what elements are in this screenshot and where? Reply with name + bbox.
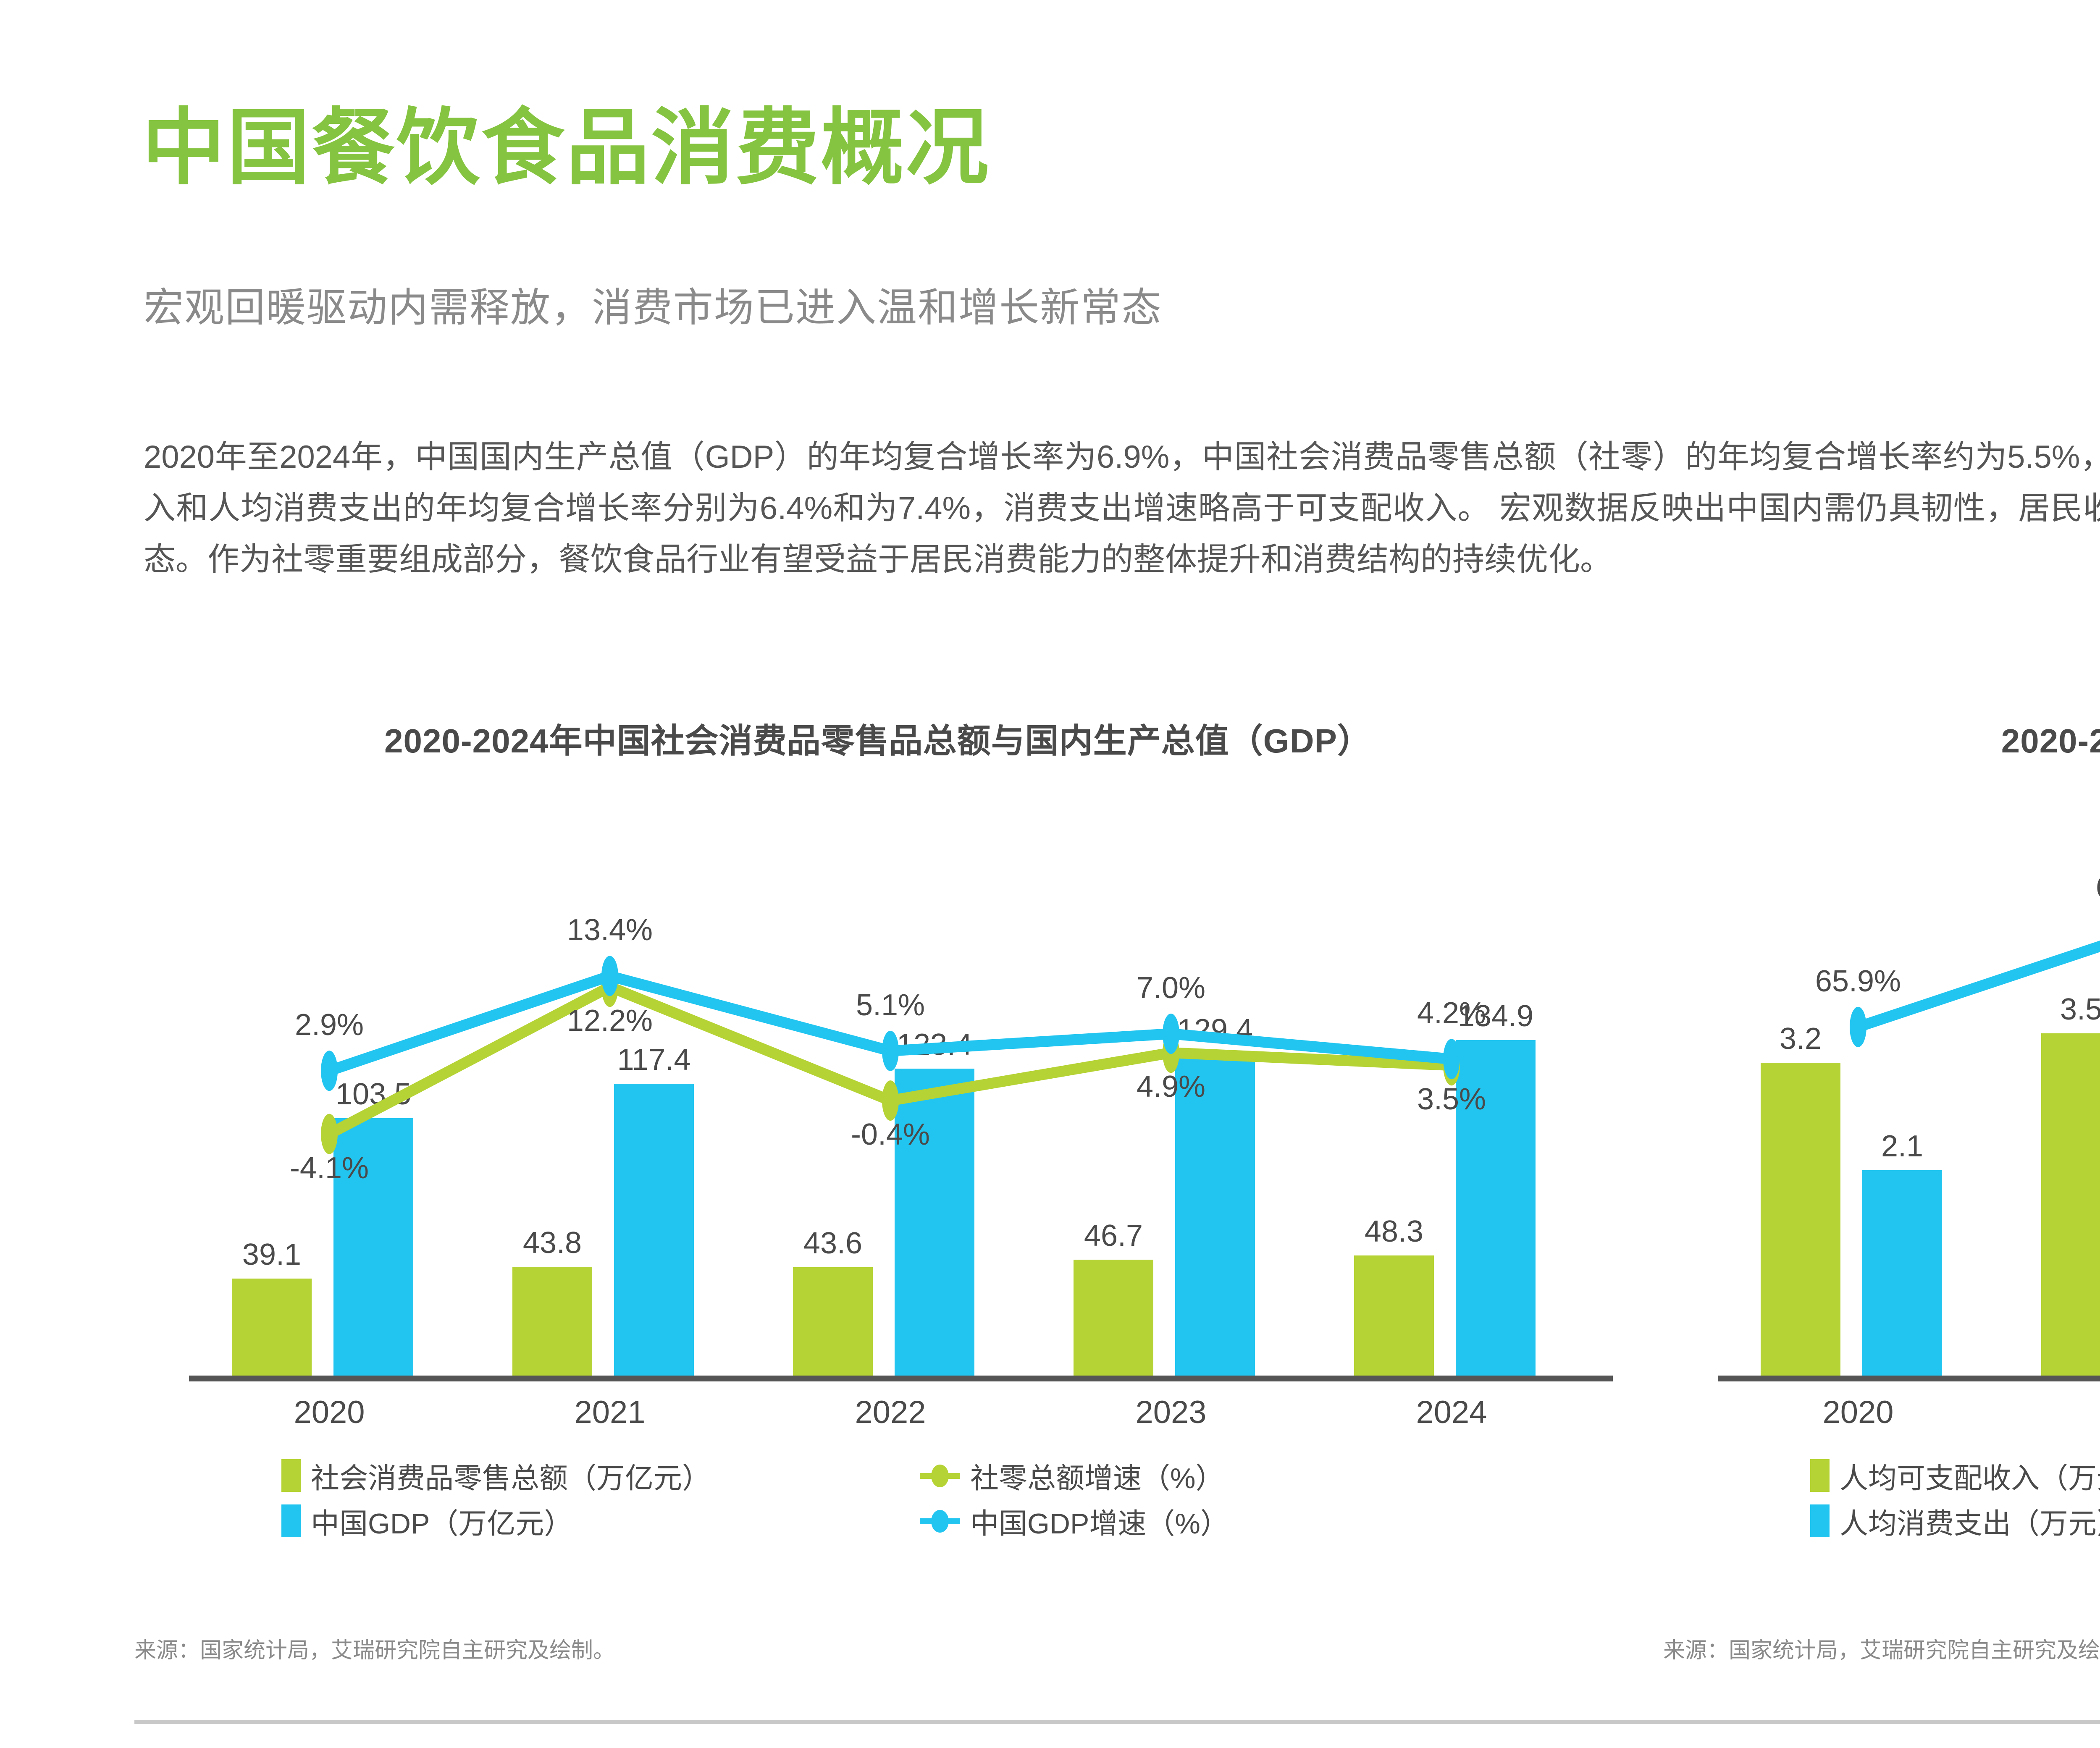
bar-value-label: 43.6 bbox=[770, 1226, 896, 1261]
bar-value-label: 103.5 bbox=[310, 1077, 436, 1111]
x-axis-tick-label: 2020 bbox=[189, 1394, 470, 1431]
line-point-label: 4.9% bbox=[1137, 1069, 1205, 1104]
bar-green: 43.8 bbox=[512, 1267, 592, 1376]
swatch-green-line-icon bbox=[920, 1459, 960, 1492]
plot-area-left: 39.1103.543.8117.443.6123.446.7129.448.3… bbox=[164, 823, 1592, 1381]
legend-label: 社会消费品零售总额（万亿元） bbox=[311, 1455, 711, 1496]
x-axis-labels-left: 20202021202220232024 bbox=[189, 1394, 1592, 1431]
chart-title-left: 2020-2024年中国社会消费品零售品总额与国内生产总值（GDP） bbox=[134, 714, 1621, 763]
legend-label: 社零总额增速（%） bbox=[970, 1455, 1224, 1496]
line-point-label: -4.1% bbox=[290, 1151, 369, 1185]
line-point-label: 7.0% bbox=[1137, 971, 1205, 1005]
bar-value-label: 39.1 bbox=[209, 1237, 335, 1272]
legend-label: 中国GDP增速（%） bbox=[970, 1500, 1229, 1542]
bar-group-container-left: 39.1103.543.8117.443.6123.446.7129.448.3… bbox=[189, 823, 1592, 1376]
page-subtitle: 宏观回暖驱动内需释放，消费市场已进入温和增长新常态 bbox=[144, 275, 1162, 333]
bar-green: 3.2 bbox=[1761, 1063, 1840, 1376]
legend-item-retail-bar[interactable]: 社会消费品零售总额（万亿元） bbox=[281, 1455, 920, 1496]
bar-green: 48.3 bbox=[1354, 1255, 1434, 1376]
bar-blue: 117.4 bbox=[614, 1084, 694, 1376]
chart-panel-left: 2020-2024年中国社会消费品零售品总额与国内生产总值（GDP） 39.11… bbox=[134, 714, 1621, 1692]
swatch-green-bar-icon bbox=[1810, 1459, 1830, 1492]
source-note-left: 来源：国家统计局，艾瑞研究院自主研究及绘制。 bbox=[134, 1633, 615, 1664]
legend-label: 人均可支配收入（万元） bbox=[1840, 1455, 2100, 1496]
legend-label: 人均消费支出（万元） bbox=[1840, 1500, 2100, 1542]
x-axis-line bbox=[1718, 1376, 2100, 1381]
bar-value-label: 117.4 bbox=[591, 1043, 717, 1077]
bar-value-label: 3.2 bbox=[1738, 1022, 1864, 1056]
x-axis-tick-label: 2022 bbox=[750, 1394, 1031, 1431]
swatch-blue-line-icon bbox=[920, 1504, 960, 1537]
legend-item-expense-bar[interactable]: 人均消费支出（万元） bbox=[1810, 1500, 2100, 1542]
x-axis-tick-label: 2020 bbox=[1718, 1394, 1998, 1431]
legend-right: 人均可支配收入（万元） 人均消费支出占人均可支配收入比例（%） 人均消费支出（万… bbox=[1810, 1453, 2100, 1544]
chart-panel-right: 2020-2024年人均可支配收入和人均消费支出及其占比 3.22.13.52.… bbox=[1663, 714, 2100, 1692]
bar-value-label: 3.5 bbox=[2018, 992, 2100, 1027]
line-point-label: -0.4% bbox=[851, 1117, 930, 1152]
swatch-blue-bar-icon bbox=[1810, 1504, 1830, 1537]
x-axis-tick-label: 2023 bbox=[1031, 1394, 1311, 1431]
legend-item-gdp-bar[interactable]: 中国GDP（万亿元） bbox=[281, 1500, 920, 1542]
source-note-right: 来源：国家统计局，艾瑞研究院自主研究及绘制。 bbox=[1663, 1633, 2100, 1664]
legend-label: 中国GDP（万亿元） bbox=[311, 1500, 572, 1542]
body-paragraph: 2020年至2024年，中国国内生产总值（GDP）的年均复合增长率为6.9%，中… bbox=[144, 432, 2100, 585]
chart-title-right: 2020-2024年人均可支配收入和人均消费支出及其占比 bbox=[1663, 714, 2100, 763]
x-axis-line bbox=[189, 1376, 1613, 1381]
bar-value-label: 123.4 bbox=[871, 1027, 997, 1062]
bar-green: 3.5 bbox=[2041, 1033, 2100, 1376]
bar-group: 3.52.4 bbox=[2021, 823, 2100, 1376]
line-point-label: 65.9% bbox=[1815, 964, 1901, 998]
line-point-label: 4.2% bbox=[1417, 996, 1486, 1030]
plot-area-right: 3.22.13.52.43.72.53.92.74.12.8 65.9%68.6… bbox=[1693, 823, 2100, 1381]
bar-blue: 123.4 bbox=[895, 1069, 974, 1376]
line-point-label: 2.9% bbox=[295, 1008, 364, 1042]
legend-item-income-bar[interactable]: 人均可支配收入（万元） bbox=[1810, 1455, 2100, 1496]
bar-group-container-right: 3.22.13.52.43.72.53.92.74.12.8 bbox=[1718, 823, 2100, 1376]
bar-value-label: 48.3 bbox=[1331, 1214, 1457, 1249]
bar-value-label: 129.4 bbox=[1152, 1013, 1278, 1047]
page-title: 中国餐饮食品消费概况 bbox=[142, 104, 990, 191]
swatch-blue-bar-icon bbox=[281, 1504, 301, 1537]
line-point-label: 5.1% bbox=[856, 988, 925, 1022]
bar-group: 3.22.1 bbox=[1740, 823, 1976, 1376]
line-point-label: 12.2% bbox=[567, 1004, 653, 1038]
bar-value-label: 43.8 bbox=[489, 1226, 615, 1260]
bar-green: 46.7 bbox=[1074, 1260, 1153, 1376]
x-axis-labels-right: 20202021202220232024 bbox=[1718, 1394, 2100, 1431]
footer-divider bbox=[134, 1720, 2100, 1724]
legend-item-gdp-growth[interactable]: 中国GDP增速（%） bbox=[920, 1500, 1229, 1542]
x-axis-tick-label: 2024 bbox=[1311, 1394, 1592, 1431]
bar-group: 43.8117.4 bbox=[492, 823, 727, 1376]
swatch-green-bar-icon bbox=[281, 1459, 301, 1492]
legend-item-retail-growth[interactable]: 社零总额增速（%） bbox=[920, 1455, 1224, 1496]
bar-blue: 2.1 bbox=[1862, 1170, 1942, 1376]
bar-group: 39.1103.5 bbox=[212, 823, 447, 1376]
bar-value-label: 46.7 bbox=[1050, 1219, 1176, 1253]
line-point-label: 68.6% bbox=[2096, 870, 2100, 905]
x-axis-tick-label: 2021 bbox=[470, 1394, 750, 1431]
slide-page: 中国餐饮食品消费概况 宏观回暖驱动内需释放，消费市场已进入温和增长新常态 Res… bbox=[0, 0, 2100, 1748]
line-point-label: 3.5% bbox=[1417, 1082, 1486, 1116]
bar-value-label: 2.1 bbox=[1839, 1129, 1965, 1164]
bar-green: 39.1 bbox=[232, 1279, 312, 1376]
x-axis-tick-label: 2021 bbox=[1998, 1394, 2100, 1431]
legend-left: 社会消费品零售总额（万亿元） 社零总额增速（%） 中国GDP（万亿元） 中国GD… bbox=[281, 1453, 1583, 1544]
bar-green: 43.6 bbox=[793, 1267, 873, 1376]
line-point-label: 13.4% bbox=[567, 913, 653, 947]
bar-group: 43.6123.4 bbox=[773, 823, 1008, 1376]
